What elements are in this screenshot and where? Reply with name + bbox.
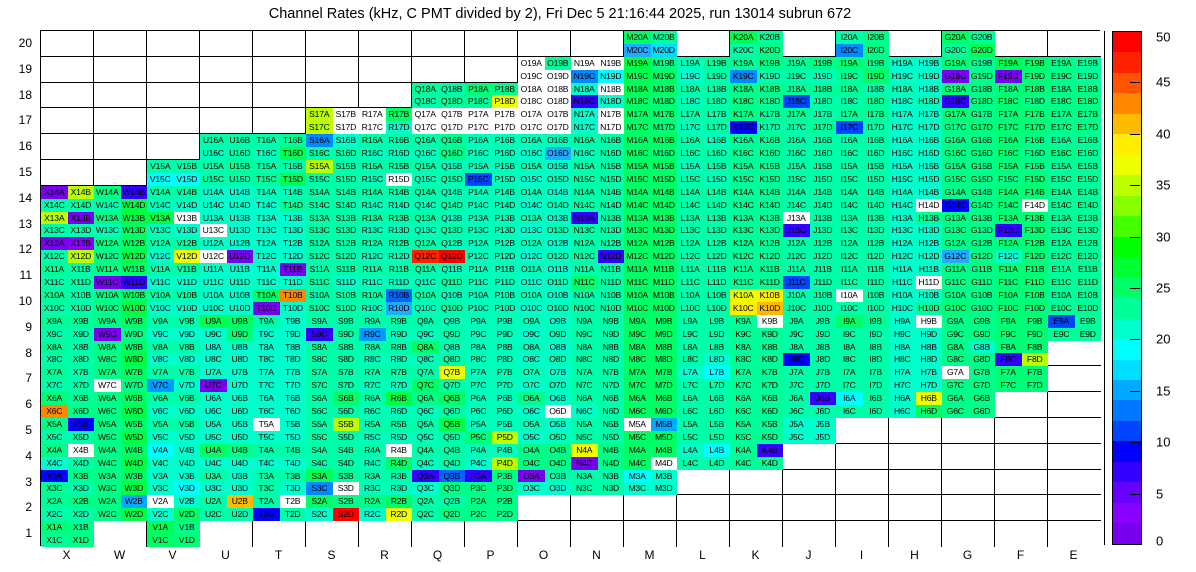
channel-F8A[interactable]: F8A — [995, 341, 1022, 354]
channel-R16D[interactable]: R16D — [386, 147, 413, 160]
grid-cell-W2[interactable]: W2AW2BW2CW2D — [94, 495, 147, 521]
channel-P15D[interactable]: P15D — [492, 173, 519, 186]
channel-S13A[interactable]: S13A — [306, 212, 333, 225]
channel-H15A[interactable]: H15A — [889, 160, 916, 173]
channel-W2B[interactable]: W2B — [121, 495, 148, 508]
channel-L7C[interactable]: L7C — [677, 379, 704, 392]
channel-Q5D[interactable]: Q5D — [439, 431, 466, 444]
grid-cell-L14[interactable]: L14AL14BL14CL14D — [677, 186, 730, 212]
channel-E19C[interactable]: E19C — [1048, 70, 1075, 83]
channel-K16A[interactable]: K16A — [730, 134, 757, 147]
channel-O8A[interactable]: O8A — [518, 341, 545, 354]
channel-E9B[interactable]: E9B — [1075, 315, 1102, 328]
channel-M13C[interactable]: M13C — [624, 224, 651, 237]
grid-cell-S12[interactable]: S12AS12BS12CS12D — [306, 237, 359, 263]
channel-I20B[interactable]: I20B — [863, 31, 890, 44]
channel-U2A[interactable]: U2A — [200, 495, 227, 508]
channel-G18C[interactable]: G18C — [942, 95, 969, 108]
channel-H17A[interactable]: H17A — [889, 108, 916, 121]
channel-X14A[interactable]: X14A — [41, 186, 68, 199]
channel-W7B[interactable]: W7B — [121, 366, 148, 379]
grid-cell-X4[interactable]: X4AX4BX4CX4D — [41, 444, 94, 470]
grid-cell-P20[interactable] — [465, 31, 518, 57]
channel-V7C[interactable]: V7C — [147, 379, 174, 392]
channel-N17C[interactable]: N17C — [571, 121, 598, 134]
channel-J17B[interactable]: J17B — [810, 108, 837, 121]
channel-X8C[interactable]: X8C — [41, 353, 68, 366]
grid-cell-H20[interactable] — [889, 31, 942, 57]
channel-J8A[interactable]: J8A — [783, 341, 810, 354]
channel-S7D[interactable]: S7D — [333, 379, 360, 392]
grid-cell-F1[interactable] — [995, 521, 1048, 547]
channel-J19B[interactable]: J19B — [810, 57, 837, 70]
channel-L14C[interactable]: L14C — [677, 199, 704, 212]
grid-cell-I17[interactable]: I17AI17BI17CI17D — [836, 108, 889, 134]
channel-P8D[interactable]: P8D — [492, 353, 519, 366]
channel-K5C[interactable]: K5C — [730, 431, 757, 444]
channel-M10D[interactable]: M10D — [651, 302, 678, 315]
grid-cell-X13[interactable]: X13AX13BX13CX13D — [41, 212, 94, 238]
channel-H6A[interactable]: H6A — [889, 392, 916, 405]
channel-G15C[interactable]: G15C — [942, 173, 969, 186]
channel-R8D[interactable]: R8D — [386, 353, 413, 366]
channel-R11A[interactable]: R11A — [359, 263, 386, 276]
channel-G8A[interactable]: G8A — [942, 341, 969, 354]
grid-cell-W20[interactable] — [94, 31, 147, 57]
grid-cell-M20[interactable]: M20AM20BM20CM20D — [624, 31, 677, 57]
channel-L19A[interactable]: L19A — [677, 57, 704, 70]
grid-cell-J9[interactable]: J9AJ9BJ9CJ9D — [783, 315, 836, 341]
channel-Q7B[interactable]: Q7B — [439, 366, 466, 379]
channel-P16B[interactable]: P16B — [492, 134, 519, 147]
grid-cell-I18[interactable]: I18AI18BI18CI18D — [836, 83, 889, 109]
channel-F11A[interactable]: F11A — [995, 263, 1022, 276]
channel-S5A[interactable]: S5A — [306, 418, 333, 431]
grid-cell-N18[interactable]: N18AN18BN18CN18D — [571, 83, 624, 109]
channel-M17C[interactable]: M17C — [624, 121, 651, 134]
channel-K15D[interactable]: K15D — [757, 173, 784, 186]
channel-N6B[interactable]: N6B — [598, 392, 625, 405]
channel-Q8B[interactable]: Q8B — [439, 341, 466, 354]
channel-X1A[interactable]: X1A — [41, 521, 68, 534]
channel-Q2C[interactable]: Q2C — [412, 508, 439, 521]
grid-cell-U1[interactable] — [200, 521, 253, 547]
channel-H12D[interactable]: H12D — [916, 250, 943, 263]
channel-T14A[interactable]: T14A — [253, 186, 280, 199]
channel-E19A[interactable]: E19A — [1048, 57, 1075, 70]
channel-J16A[interactable]: J16A — [783, 134, 810, 147]
grid-cell-S17[interactable]: S17AS17BS17CS17D — [306, 108, 359, 134]
channel-H16D[interactable]: H16D — [916, 147, 943, 160]
channel-M5B[interactable]: M5B — [651, 418, 678, 431]
channel-H15C[interactable]: H15C — [889, 173, 916, 186]
channel-Q17C[interactable]: Q17C — [412, 121, 439, 134]
channel-N9D[interactable]: N9D — [598, 328, 625, 341]
grid-cell-Q5[interactable]: Q5AQ5BQ5CQ5D — [412, 418, 465, 444]
grid-cell-S9[interactable]: S9AS9BS9CS9D — [306, 315, 359, 341]
channel-P7A[interactable]: P7A — [465, 366, 492, 379]
channel-L11B[interactable]: L11B — [704, 263, 731, 276]
channel-F13A[interactable]: F13A — [995, 212, 1022, 225]
channel-X10A[interactable]: X10A — [41, 289, 68, 302]
channel-V5A[interactable]: V5A — [147, 418, 174, 431]
channel-U3C[interactable]: U3C — [200, 482, 227, 495]
channel-X2C[interactable]: X2C — [41, 508, 68, 521]
channel-U7B[interactable]: U7B — [227, 366, 254, 379]
channel-O16D[interactable]: O16D — [545, 147, 572, 160]
channel-S16D[interactable]: S16D — [333, 147, 360, 160]
channel-U9A[interactable]: U9A — [200, 315, 227, 328]
channel-M7C[interactable]: M7C — [624, 379, 651, 392]
grid-cell-U20[interactable] — [200, 31, 253, 57]
channel-W10D[interactable]: W10D — [121, 302, 148, 315]
channel-R10B[interactable]: R10B — [386, 289, 413, 302]
channel-I15D[interactable]: I15D — [863, 173, 890, 186]
channel-J15D[interactable]: J15D — [810, 173, 837, 186]
channel-H11A[interactable]: H11A — [889, 263, 916, 276]
grid-cell-I13[interactable]: I13AI13BI13CI13D — [836, 212, 889, 238]
grid-cell-J13[interactable]: J13AJ13BJ13CJ13D — [783, 212, 836, 238]
channel-L5D[interactable]: L5D — [704, 431, 731, 444]
grid-cell-I10[interactable]: I10AI10BI10CI10D — [836, 289, 889, 315]
channel-I18A[interactable]: I18A — [836, 83, 863, 96]
channel-G10C[interactable]: G10C — [942, 302, 969, 315]
channel-P4C[interactable]: P4C — [465, 457, 492, 470]
channel-E16D[interactable]: E16D — [1075, 147, 1102, 160]
grid-cell-N11[interactable]: N11AN11BN11CN11D — [571, 263, 624, 289]
grid-cell-H16[interactable]: H16AH16BH16CH16D — [889, 134, 942, 160]
channel-N11D[interactable]: N11D — [598, 276, 625, 289]
channel-J15B[interactable]: J15B — [810, 160, 837, 173]
grid-cell-M18[interactable]: M18AM18BM18CM18D — [624, 83, 677, 109]
grid-cell-F3[interactable] — [995, 470, 1048, 496]
channel-R2C[interactable]: R2C — [359, 508, 386, 521]
grid-cell-T11[interactable]: T11AT11BT11CT11D — [253, 263, 306, 289]
grid-cell-R20[interactable] — [359, 31, 412, 57]
channel-S6C[interactable]: S6C — [306, 405, 333, 418]
grid-cell-X1[interactable]: X1AX1BX1CX1D — [41, 521, 94, 547]
channel-S9B[interactable]: S9B — [333, 315, 360, 328]
channel-M20C[interactable]: M20C — [624, 44, 651, 57]
grid-cell-I8[interactable]: I8AI8BI8CI8D — [836, 341, 889, 367]
channel-N16B[interactable]: N16B — [598, 134, 625, 147]
grid-cell-O3[interactable]: O3AO3BO3CO3D — [518, 470, 571, 496]
grid-cell-M3[interactable]: M3AM3BM3CM3D — [624, 470, 677, 496]
channel-N4A[interactable]: N4A — [571, 444, 598, 457]
grid-cell-E3[interactable] — [1048, 470, 1101, 496]
channel-F9D[interactable]: F9D — [1022, 328, 1049, 341]
channel-P2A[interactable]: P2A — [465, 495, 492, 508]
channel-U16B[interactable]: U16B — [227, 134, 254, 147]
channel-I14A[interactable]: I14A — [836, 186, 863, 199]
channel-I6C[interactable]: I6C — [836, 405, 863, 418]
channel-U16D[interactable]: U16D — [227, 147, 254, 160]
channel-R13A[interactable]: R13A — [359, 212, 386, 225]
grid-cell-U9[interactable]: U9AU9BU9CU9D — [200, 315, 253, 341]
channel-E10D[interactable]: E10D — [1075, 302, 1102, 315]
channel-J10D[interactable]: J10D — [810, 302, 837, 315]
grid-cell-M9[interactable]: M9AM9BM9CM9D — [624, 315, 677, 341]
channel-Q5C[interactable]: Q5C — [412, 431, 439, 444]
channel-F17D[interactable]: F17D — [1022, 121, 1049, 134]
channel-O15C[interactable]: O15C — [518, 173, 545, 186]
channel-O17C[interactable]: O17C — [518, 121, 545, 134]
channel-P12A[interactable]: P12A — [465, 237, 492, 250]
grid-cell-J7[interactable]: J7AJ7BJ7CJ7D — [783, 366, 836, 392]
channel-O13A[interactable]: O13A — [518, 212, 545, 225]
channel-V14A[interactable]: V14A — [147, 186, 174, 199]
channel-U9C[interactable]: U9C — [200, 328, 227, 341]
channel-L10A[interactable]: L10A — [677, 289, 704, 302]
grid-cell-K11[interactable]: K11AK11BK11CK11D — [730, 263, 783, 289]
grid-cell-I15[interactable]: I15AI15BI15CI15D — [836, 160, 889, 186]
grid-cell-J14[interactable]: J14AJ14BJ14CJ14D — [783, 186, 836, 212]
grid-cell-Q7[interactable]: Q7AQ7BQ7CQ7D — [412, 366, 465, 392]
channel-H7C[interactable]: H7C — [889, 379, 916, 392]
grid-cell-F18[interactable]: F18AF18BF18CF18D — [995, 83, 1048, 109]
channel-O15D[interactable]: O15D — [545, 173, 572, 186]
grid-cell-P7[interactable]: P7AP7BP7CP7D — [465, 366, 518, 392]
channel-R5C[interactable]: R5C — [359, 431, 386, 444]
channel-S13D[interactable]: S13D — [333, 224, 360, 237]
grid-cell-F20[interactable] — [995, 31, 1048, 57]
channel-F9C[interactable]: F9C — [995, 328, 1022, 341]
channel-K5B[interactable]: K5B — [757, 418, 784, 431]
grid-cell-J8[interactable]: J8AJ8BJ8CJ8D — [783, 341, 836, 367]
channel-V1B[interactable]: V1B — [174, 521, 201, 534]
channel-H16C[interactable]: H16C — [889, 147, 916, 160]
grid-cell-V13[interactable]: V13AV13BV13CV13D — [147, 212, 200, 238]
channel-J19A[interactable]: J19A — [783, 57, 810, 70]
grid-cell-K7[interactable]: K7AK7BK7CK7D — [730, 366, 783, 392]
channel-U10D[interactable]: U10D — [227, 302, 254, 315]
channel-G14B[interactable]: G14B — [969, 186, 996, 199]
channel-T10A[interactable]: T10A — [253, 289, 280, 302]
channel-M7D[interactable]: M7D — [651, 379, 678, 392]
channel-R2A[interactable]: R2A — [359, 495, 386, 508]
channel-V10C[interactable]: V10C — [147, 302, 174, 315]
channel-F11C[interactable]: F11C — [995, 276, 1022, 289]
channel-H10B[interactable]: H10B — [916, 289, 943, 302]
channel-F10A[interactable]: F10A — [995, 289, 1022, 302]
channel-S4A[interactable]: S4A — [306, 444, 333, 457]
channel-L12A[interactable]: L12A — [677, 237, 704, 250]
grid-cell-W4[interactable]: W4AW4BW4CW4D — [94, 444, 147, 470]
channel-Q15C[interactable]: Q15C — [412, 173, 439, 186]
channel-J7B[interactable]: J7B — [810, 366, 837, 379]
channel-Q18B[interactable]: Q18B — [439, 83, 466, 96]
channel-J14C[interactable]: J14C — [783, 199, 810, 212]
channel-O10D[interactable]: O10D — [545, 302, 572, 315]
channel-S4C[interactable]: S4C — [306, 457, 333, 470]
grid-cell-Q4[interactable]: Q4AQ4BQ4CQ4D — [412, 444, 465, 470]
channel-V10D[interactable]: V10D — [174, 302, 201, 315]
channel-V9B[interactable]: V9B — [174, 315, 201, 328]
grid-cell-M4[interactable]: M4AM4BM4CM4D — [624, 444, 677, 470]
channel-I17D[interactable]: I17D — [863, 121, 890, 134]
channel-G7B[interactable]: G7B — [969, 366, 996, 379]
channel-M13D[interactable]: M13D — [651, 224, 678, 237]
grid-cell-Q1[interactable] — [412, 521, 465, 547]
channel-Q4D[interactable]: Q4D — [439, 457, 466, 470]
grid-cell-G9[interactable]: G9AG9BG9CG9D — [942, 315, 995, 341]
channel-M16B[interactable]: M16B — [651, 134, 678, 147]
grid-cell-M13[interactable]: M13AM13BM13CM13D — [624, 212, 677, 238]
channel-O17D[interactable]: O17D — [545, 121, 572, 134]
channel-H12C[interactable]: H12C — [889, 250, 916, 263]
channel-Q12B[interactable]: Q12B — [439, 237, 466, 250]
channel-K15A[interactable]: K15A — [730, 160, 757, 173]
channel-E12B[interactable]: E12B — [1075, 237, 1102, 250]
channel-Q8D[interactable]: Q8D — [439, 353, 466, 366]
channel-L18B[interactable]: L18B — [704, 83, 731, 96]
channel-P4D[interactable]: P4D — [492, 457, 519, 470]
channel-W2C[interactable]: W2C — [94, 508, 121, 521]
grid-cell-R15[interactable]: R15AR15BR15CR15D — [359, 160, 412, 186]
grid-cell-V14[interactable]: V14AV14BV14CV14D — [147, 186, 200, 212]
channel-U2B[interactable]: U2B — [227, 495, 254, 508]
channel-W7D[interactable]: W7D — [121, 379, 148, 392]
channel-H17D[interactable]: H17D — [916, 121, 943, 134]
channel-K11B[interactable]: K11B — [757, 263, 784, 276]
grid-cell-L5[interactable]: L5AL5BL5CL5D — [677, 418, 730, 444]
grid-cell-Q2[interactable]: Q2AQ2BQ2CQ2D — [412, 495, 465, 521]
channel-K6B[interactable]: K6B — [757, 392, 784, 405]
channel-Q11A[interactable]: Q11A — [412, 263, 439, 276]
channel-R7A[interactable]: R7A — [359, 366, 386, 379]
grid-cell-E17[interactable]: E17AE17BE17CE17D — [1048, 108, 1101, 134]
grid-cell-U4[interactable]: U4AU4BU4CU4D — [200, 444, 253, 470]
channel-G10B[interactable]: G10B — [969, 289, 996, 302]
channel-O17B[interactable]: O17B — [545, 108, 572, 121]
channel-N16A[interactable]: N16A — [571, 134, 598, 147]
grid-cell-N6[interactable]: N6AN6BN6CN6D — [571, 392, 624, 418]
channel-V13D[interactable]: V13D — [174, 224, 201, 237]
channel-F15A[interactable]: F15A — [995, 160, 1022, 173]
channel-J13A[interactable]: J13A — [783, 212, 810, 225]
grid-cell-T15[interactable]: T15AT15BT15CT15D — [253, 160, 306, 186]
channel-R9D[interactable]: R9D — [386, 328, 413, 341]
channel-J14A[interactable]: J14A — [783, 186, 810, 199]
channel-G13D[interactable]: G13D — [969, 224, 996, 237]
channel-I8B[interactable]: I8B — [863, 341, 890, 354]
channel-G9B[interactable]: G9B — [969, 315, 996, 328]
channel-K4B[interactable]: K4B — [757, 444, 784, 457]
channel-E13C[interactable]: E13C — [1048, 224, 1075, 237]
channel-U14A[interactable]: U14A — [200, 186, 227, 199]
grid-cell-O16[interactable]: O16AO16BO16CO16D — [518, 134, 571, 160]
channel-L18C[interactable]: L18C — [677, 95, 704, 108]
channel-U10B[interactable]: U10B — [227, 289, 254, 302]
grid-cell-T18[interactable] — [253, 83, 306, 109]
channel-W4A[interactable]: W4A — [94, 444, 121, 457]
channel-E11A[interactable]: E11A — [1048, 263, 1075, 276]
channel-M3C[interactable]: M3C — [624, 482, 651, 495]
channel-W3A[interactable]: W3A — [94, 470, 121, 483]
channel-N16C[interactable]: N16C — [571, 147, 598, 160]
channel-I18B[interactable]: I18B — [863, 83, 890, 96]
channel-E15C[interactable]: E15C — [1048, 173, 1075, 186]
grid-cell-L16[interactable]: L16AL16BL16CL16D — [677, 134, 730, 160]
channel-I12A[interactable]: I12A — [836, 237, 863, 250]
grid-cell-P6[interactable]: P6AP6BP6CP6D — [465, 392, 518, 418]
channel-I17A[interactable]: I17A — [836, 108, 863, 121]
channel-H19D[interactable]: H19D — [916, 70, 943, 83]
channel-N13D[interactable]: N13D — [598, 224, 625, 237]
channel-J14B[interactable]: J14B — [810, 186, 837, 199]
grid-cell-Q14[interactable]: Q14AQ14BQ14CQ14D — [412, 186, 465, 212]
grid-cell-H3[interactable] — [889, 470, 942, 496]
channel-N5A[interactable]: N5A — [571, 418, 598, 431]
channel-P14B[interactable]: P14B — [492, 186, 519, 199]
channel-N9C[interactable]: N9C — [571, 328, 598, 341]
channel-M13A[interactable]: M13A — [624, 212, 651, 225]
grid-cell-P11[interactable]: P11AP11BP11CP11D — [465, 263, 518, 289]
channel-N6C[interactable]: N6C — [571, 405, 598, 418]
channel-L19B[interactable]: L19B — [704, 57, 731, 70]
channel-W11B[interactable]: W11B — [121, 263, 148, 276]
channel-K9C[interactable]: K9C — [730, 328, 757, 341]
channel-S16A[interactable]: S16A — [306, 134, 333, 147]
grid-cell-M2[interactable] — [624, 495, 677, 521]
channel-P9D[interactable]: P9D — [492, 328, 519, 341]
grid-cell-M19[interactable]: M19AM19BM19CM19D — [624, 57, 677, 83]
channel-M4A[interactable]: M4A — [624, 444, 651, 457]
grid-cell-O2[interactable] — [518, 495, 571, 521]
channel-U12D[interactable]: U12D — [227, 250, 254, 263]
grid-cell-N10[interactable]: N10AN10BN10CN10D — [571, 289, 624, 315]
channel-J8C[interactable]: J8C — [783, 353, 810, 366]
grid-cell-I5[interactable] — [836, 418, 889, 444]
channel-V8A[interactable]: V8A — [147, 341, 174, 354]
channel-M17D[interactable]: M17D — [651, 121, 678, 134]
channel-U5A[interactable]: U5A — [200, 418, 227, 431]
channel-N9B[interactable]: N9B — [598, 315, 625, 328]
channel-Q17A[interactable]: Q17A — [412, 108, 439, 121]
channel-Q13B[interactable]: Q13B — [439, 212, 466, 225]
grid-cell-S8[interactable]: S8AS8BS8CS8D — [306, 341, 359, 367]
channel-T7C[interactable]: T7C — [253, 379, 280, 392]
channel-R17B[interactable]: R17B — [386, 108, 413, 121]
channel-X7A[interactable]: X7A — [41, 366, 68, 379]
channel-S16C[interactable]: S16C — [306, 147, 333, 160]
channel-P8C[interactable]: P8C — [465, 353, 492, 366]
grid-cell-S5[interactable]: S5AS5BS5CS5D — [306, 418, 359, 444]
channel-G13C[interactable]: G13C — [942, 224, 969, 237]
grid-cell-F5[interactable] — [995, 418, 1048, 444]
grid-cell-K15[interactable]: K15AK15BK15CK15D — [730, 160, 783, 186]
channel-X8A[interactable]: X8A — [41, 341, 68, 354]
channel-Q14A[interactable]: Q14A — [412, 186, 439, 199]
grid-cell-S20[interactable] — [306, 31, 359, 57]
grid-cell-W19[interactable] — [94, 57, 147, 83]
grid-cell-U2[interactable]: U2AU2BU2CU2D — [200, 495, 253, 521]
channel-T16D[interactable]: T16D — [280, 147, 307, 160]
channel-G7C[interactable]: G7C — [942, 379, 969, 392]
channel-M18C[interactable]: M18C — [624, 95, 651, 108]
grid-cell-Q19[interactable] — [412, 57, 465, 83]
channel-S15A[interactable]: S15A — [306, 160, 333, 173]
channel-X7B[interactable]: X7B — [68, 366, 95, 379]
channel-W8A[interactable]: W8A — [94, 341, 121, 354]
grid-cell-E16[interactable]: E16AE16BE16CE16D — [1048, 134, 1101, 160]
channel-F7A[interactable]: F7A — [995, 366, 1022, 379]
channel-N7C[interactable]: N7C — [571, 379, 598, 392]
channel-L15A[interactable]: L15A — [677, 160, 704, 173]
channel-J9C[interactable]: J9C — [783, 328, 810, 341]
grid-cell-G14[interactable]: G14AG14BG14CG14D — [942, 186, 995, 212]
channel-U4B[interactable]: U4B — [227, 444, 254, 457]
